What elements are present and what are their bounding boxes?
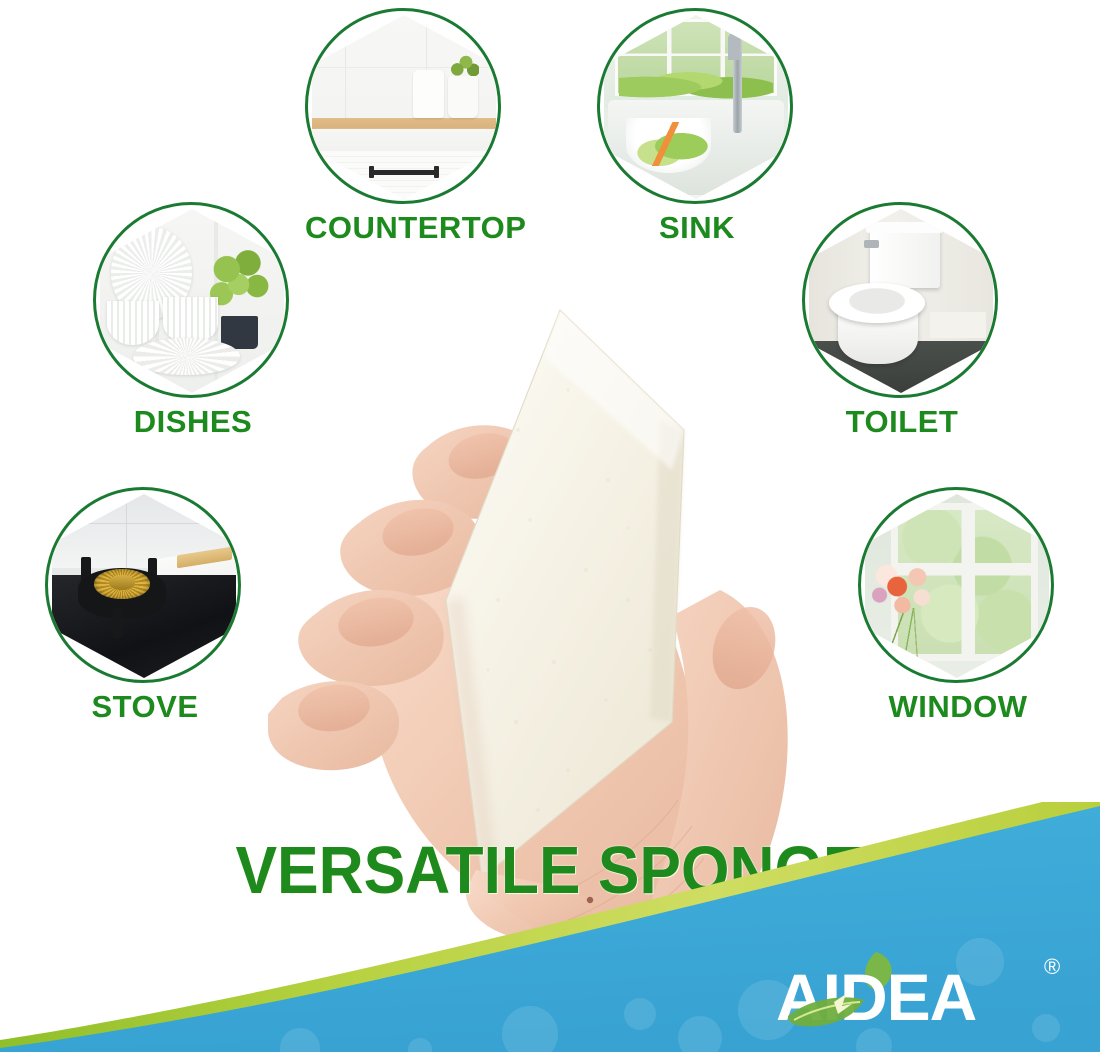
- badge-ring: [93, 202, 289, 398]
- badge-ring: [858, 487, 1054, 683]
- badge-ring: [597, 8, 793, 204]
- badge-label-countertop: COUNTERTOP: [305, 212, 505, 243]
- feature-badge-window: WINDOW: [858, 487, 1058, 722]
- badge-label-sink: SINK: [597, 212, 797, 243]
- badge-ring: [45, 487, 241, 683]
- logo-trademark: ®: [1044, 954, 1060, 979]
- countertop-photo-icon: [312, 15, 496, 199]
- window-photo-icon: [865, 494, 1049, 678]
- badge-ring: [305, 8, 501, 204]
- badge-label-toilet: TOILET: [802, 406, 1002, 437]
- feature-badge-sink: SINK: [597, 8, 797, 243]
- badge-label-dishes: DISHES: [93, 406, 293, 437]
- feature-badge-stove: STOVE: [45, 487, 245, 722]
- product-feature-image: COUNTERTOP SINK DISHES: [0, 0, 1100, 1052]
- badge-label-window: WINDOW: [858, 691, 1058, 722]
- sink-photo-icon: [604, 15, 788, 199]
- aidea-leaf-logo-icon: AIDEA ®: [772, 946, 1072, 1038]
- badge-ring: [802, 202, 998, 398]
- toilet-photo-icon: [809, 209, 993, 393]
- stove-photo-icon: [52, 494, 236, 678]
- feature-badge-toilet: TOILET: [802, 202, 1002, 437]
- badge-label-stove: STOVE: [45, 691, 245, 722]
- feature-badge-countertop: COUNTERTOP: [305, 8, 505, 243]
- dishes-photo-icon: [100, 209, 284, 393]
- feature-badge-dishes: DISHES: [93, 202, 293, 437]
